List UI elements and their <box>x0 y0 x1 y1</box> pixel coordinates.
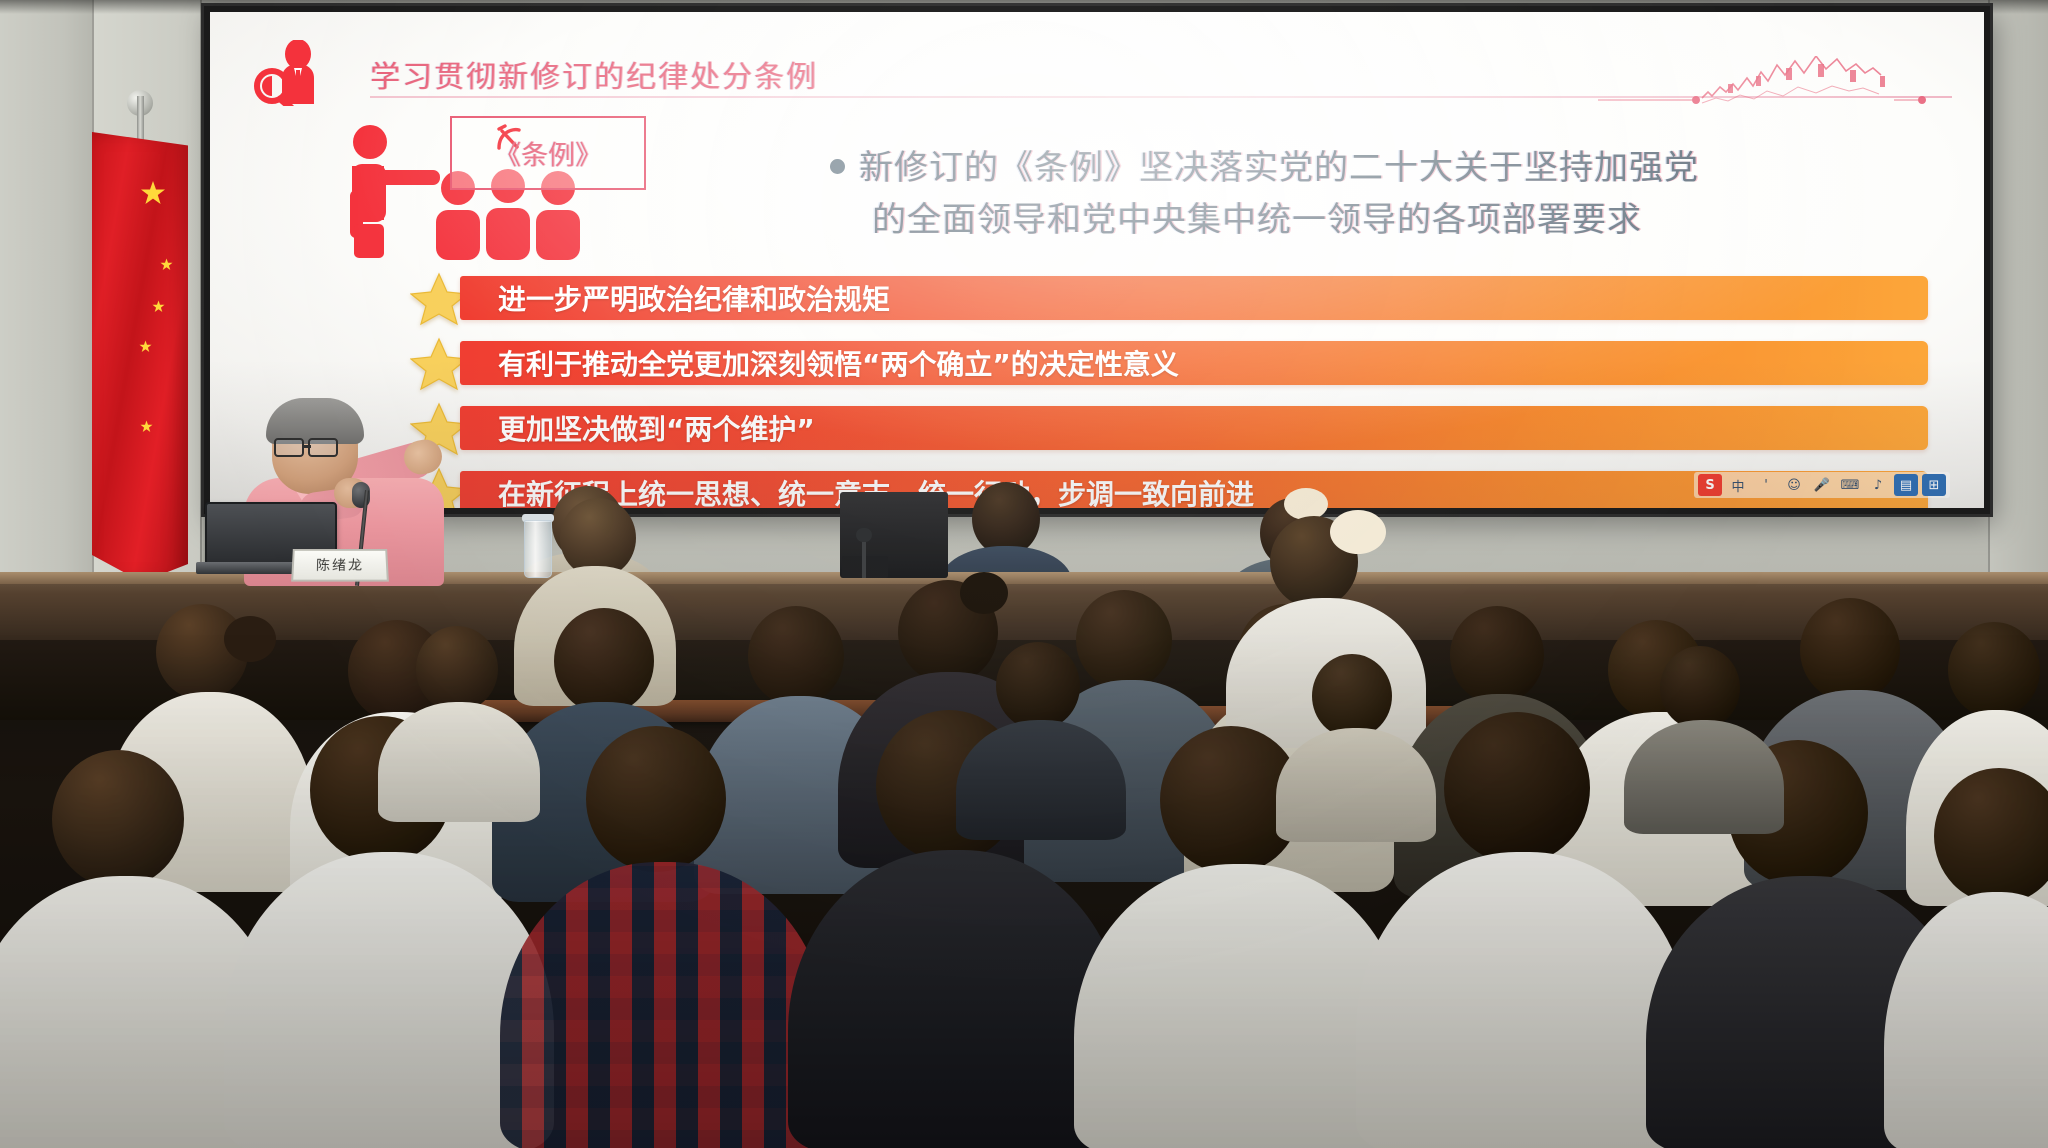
seated-person-front-row <box>938 482 1074 578</box>
paragraph-line-1: 新修订的《条例》坚决落实党的二十大关于坚持加强党 <box>830 142 1950 194</box>
presenter-glasses-left-lens <box>274 438 304 457</box>
bullet-bar-row: 有利于推动全党更加深刻领悟“两个确立”的决定性意义 <box>388 341 1928 391</box>
flag-star-large <box>140 180 166 206</box>
bullet-bar-text: 有利于推动全党更加深刻领悟“两个确立”的决定性意义 <box>460 343 1179 383</box>
presenter-glasses-bridge <box>303 445 311 448</box>
bullet-bar-text: 更加坚决做到“两个维护” <box>460 408 815 448</box>
voice-input-icon[interactable]: 🎤 <box>1810 474 1834 496</box>
audience-person <box>1900 760 2048 1148</box>
flag-star-small-2 <box>152 300 165 313</box>
magnifier-person-icon <box>252 40 348 106</box>
tools-icon[interactable]: ♪ <box>1866 474 1890 496</box>
sogou-logo-icon[interactable]: S <box>1698 474 1722 496</box>
punctuation-mode-icon[interactable]: ' <box>1754 474 1778 496</box>
slide-title: 学习贯彻新修订的纪律处分条例 <box>370 52 818 96</box>
flag-star-small-1 <box>160 258 173 271</box>
projection-screen: 学习贯彻新修订的纪律处分条例 <box>204 6 1990 514</box>
great-wall-line-art <box>1596 56 1926 108</box>
lecture-hall-scene: 学习贯彻新修订的纪律处分条例 <box>0 0 2048 1148</box>
paragraph-line-1-text: 新修订的《条例》坚决落实党的二十大关于坚持加强党 <box>859 148 1699 188</box>
regulations-label: 《条例》 <box>452 134 644 173</box>
bullet-bar-body: 更加坚决做到“两个维护” <box>460 406 1928 450</box>
soft-keyboard-icon[interactable]: ⌨ <box>1838 474 1862 496</box>
bullet-bar-body: 进一步严明政治纪律和政治规矩 <box>460 276 1928 320</box>
slide-header: 学习贯彻新修订的纪律处分条例 <box>230 34 1960 108</box>
round-bullet <box>830 159 845 174</box>
audience-person <box>1628 640 1778 830</box>
audience-person <box>960 636 1120 836</box>
bullet-bar-body: 有利于推动全党更加深刻领悟“两个确立”的决定性意义 <box>460 341 1928 385</box>
emoji-icon[interactable]: ☺ <box>1782 474 1806 496</box>
chinese-mode-icon[interactable]: 中 <box>1726 474 1750 496</box>
flag-star-small-4 <box>140 420 153 433</box>
audience-person <box>520 716 810 1148</box>
audience-person <box>382 620 532 820</box>
ime-toolbar[interactable]: S 中 ' ☺ 🎤 ⌨ ♪ ▤ ⊞ <box>1694 472 1950 498</box>
presenter-glasses-right-lens <box>308 438 338 457</box>
presenter-name: 陈绪龙 <box>316 555 365 574</box>
bullet-bar-text: 进一步严明政治纪律和政治规矩 <box>460 278 890 318</box>
more-icon[interactable]: ⊞ <box>1922 474 1946 496</box>
paragraph-line-2: 的全面领导和党中央集中统一领导的各项部署要求 <box>830 194 1950 246</box>
bullet-bar-row: 进一步严明政治纪律和政治规矩 <box>388 276 1928 326</box>
presenter-nameplate: 陈绪龙 <box>291 549 389 582</box>
slide-paragraph: 新修订的《条例》坚决落实党的二十大关于坚持加强党 的全面领导和党中央集中统一领导… <box>830 142 1950 246</box>
bullet-bar-row: 更加坚决做到“两个维护” <box>388 406 1928 456</box>
second-microphone-head <box>856 528 872 542</box>
toolbox-icon[interactable]: ▤ <box>1894 474 1918 496</box>
regulations-callout-box: 《条例》 <box>450 116 646 190</box>
slide-surface: 学习贯彻新修订的纪律处分条例 <box>210 12 1984 508</box>
flag-star-small-3 <box>139 340 152 353</box>
audience-person <box>1280 648 1430 838</box>
